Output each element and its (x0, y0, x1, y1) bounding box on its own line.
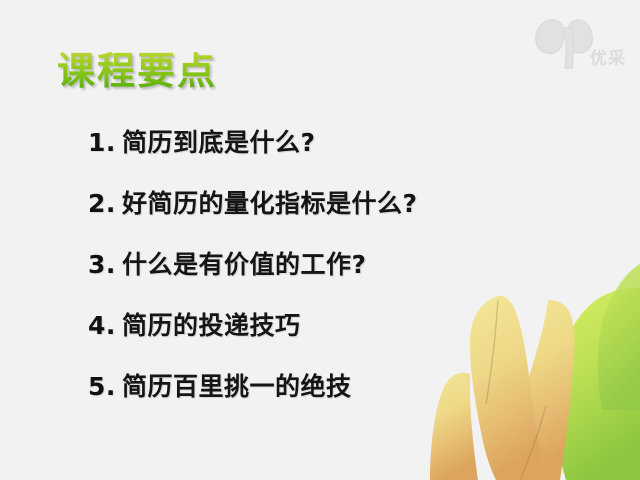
petal-shade-line-2 (520, 406, 546, 480)
list-item-label: 简历百里挑一的绝技 (122, 372, 352, 402)
list-item-label: 好简历的量化指标是什么? (122, 189, 418, 219)
course-points-list: 1. 简历到底是什么? 2. 好简历的量化指标是什么? 3. 什么是有价值的工作… (88, 128, 418, 433)
petal-green-sliver (598, 264, 640, 410)
list-item: 5. 简历百里挑一的绝技 (88, 372, 418, 433)
leaf-left-lobe (536, 20, 565, 54)
petal-green-right (554, 288, 640, 480)
watermark-logo: 优采 (520, 4, 632, 72)
petal-shade-line (486, 300, 498, 404)
list-item: 1. 简历到底是什么? (88, 128, 418, 189)
slide-canvas: 优采 课程要点 1. 简历到底是什么? 2. 好简历的量化指标是什么? 3. 什… (0, 0, 640, 480)
leaf-stem (564, 28, 574, 68)
list-item-number: 3. (88, 250, 122, 280)
list-item-number: 1. (88, 128, 122, 158)
watermark-brand-text: 优采 (590, 51, 626, 68)
petal-orange-left (470, 296, 546, 480)
list-item-label: 什么是有价值的工作? (122, 250, 367, 280)
list-item-number: 4. (88, 311, 122, 341)
list-item-label: 简历到底是什么? (122, 128, 316, 158)
list-item-number: 5. (88, 372, 122, 402)
page-title: 课程要点 (57, 52, 217, 92)
list-item: 4. 简历的投递技巧 (88, 311, 418, 372)
list-item: 2. 好简历的量化指标是什么? (88, 189, 418, 250)
petal-orange-main (500, 300, 574, 480)
list-item-number: 2. (88, 189, 122, 219)
list-item: 3. 什么是有价值的工作? (88, 250, 418, 311)
list-item-label: 简历的投递技巧 (122, 311, 301, 341)
petal-orange-wedge (430, 373, 478, 480)
